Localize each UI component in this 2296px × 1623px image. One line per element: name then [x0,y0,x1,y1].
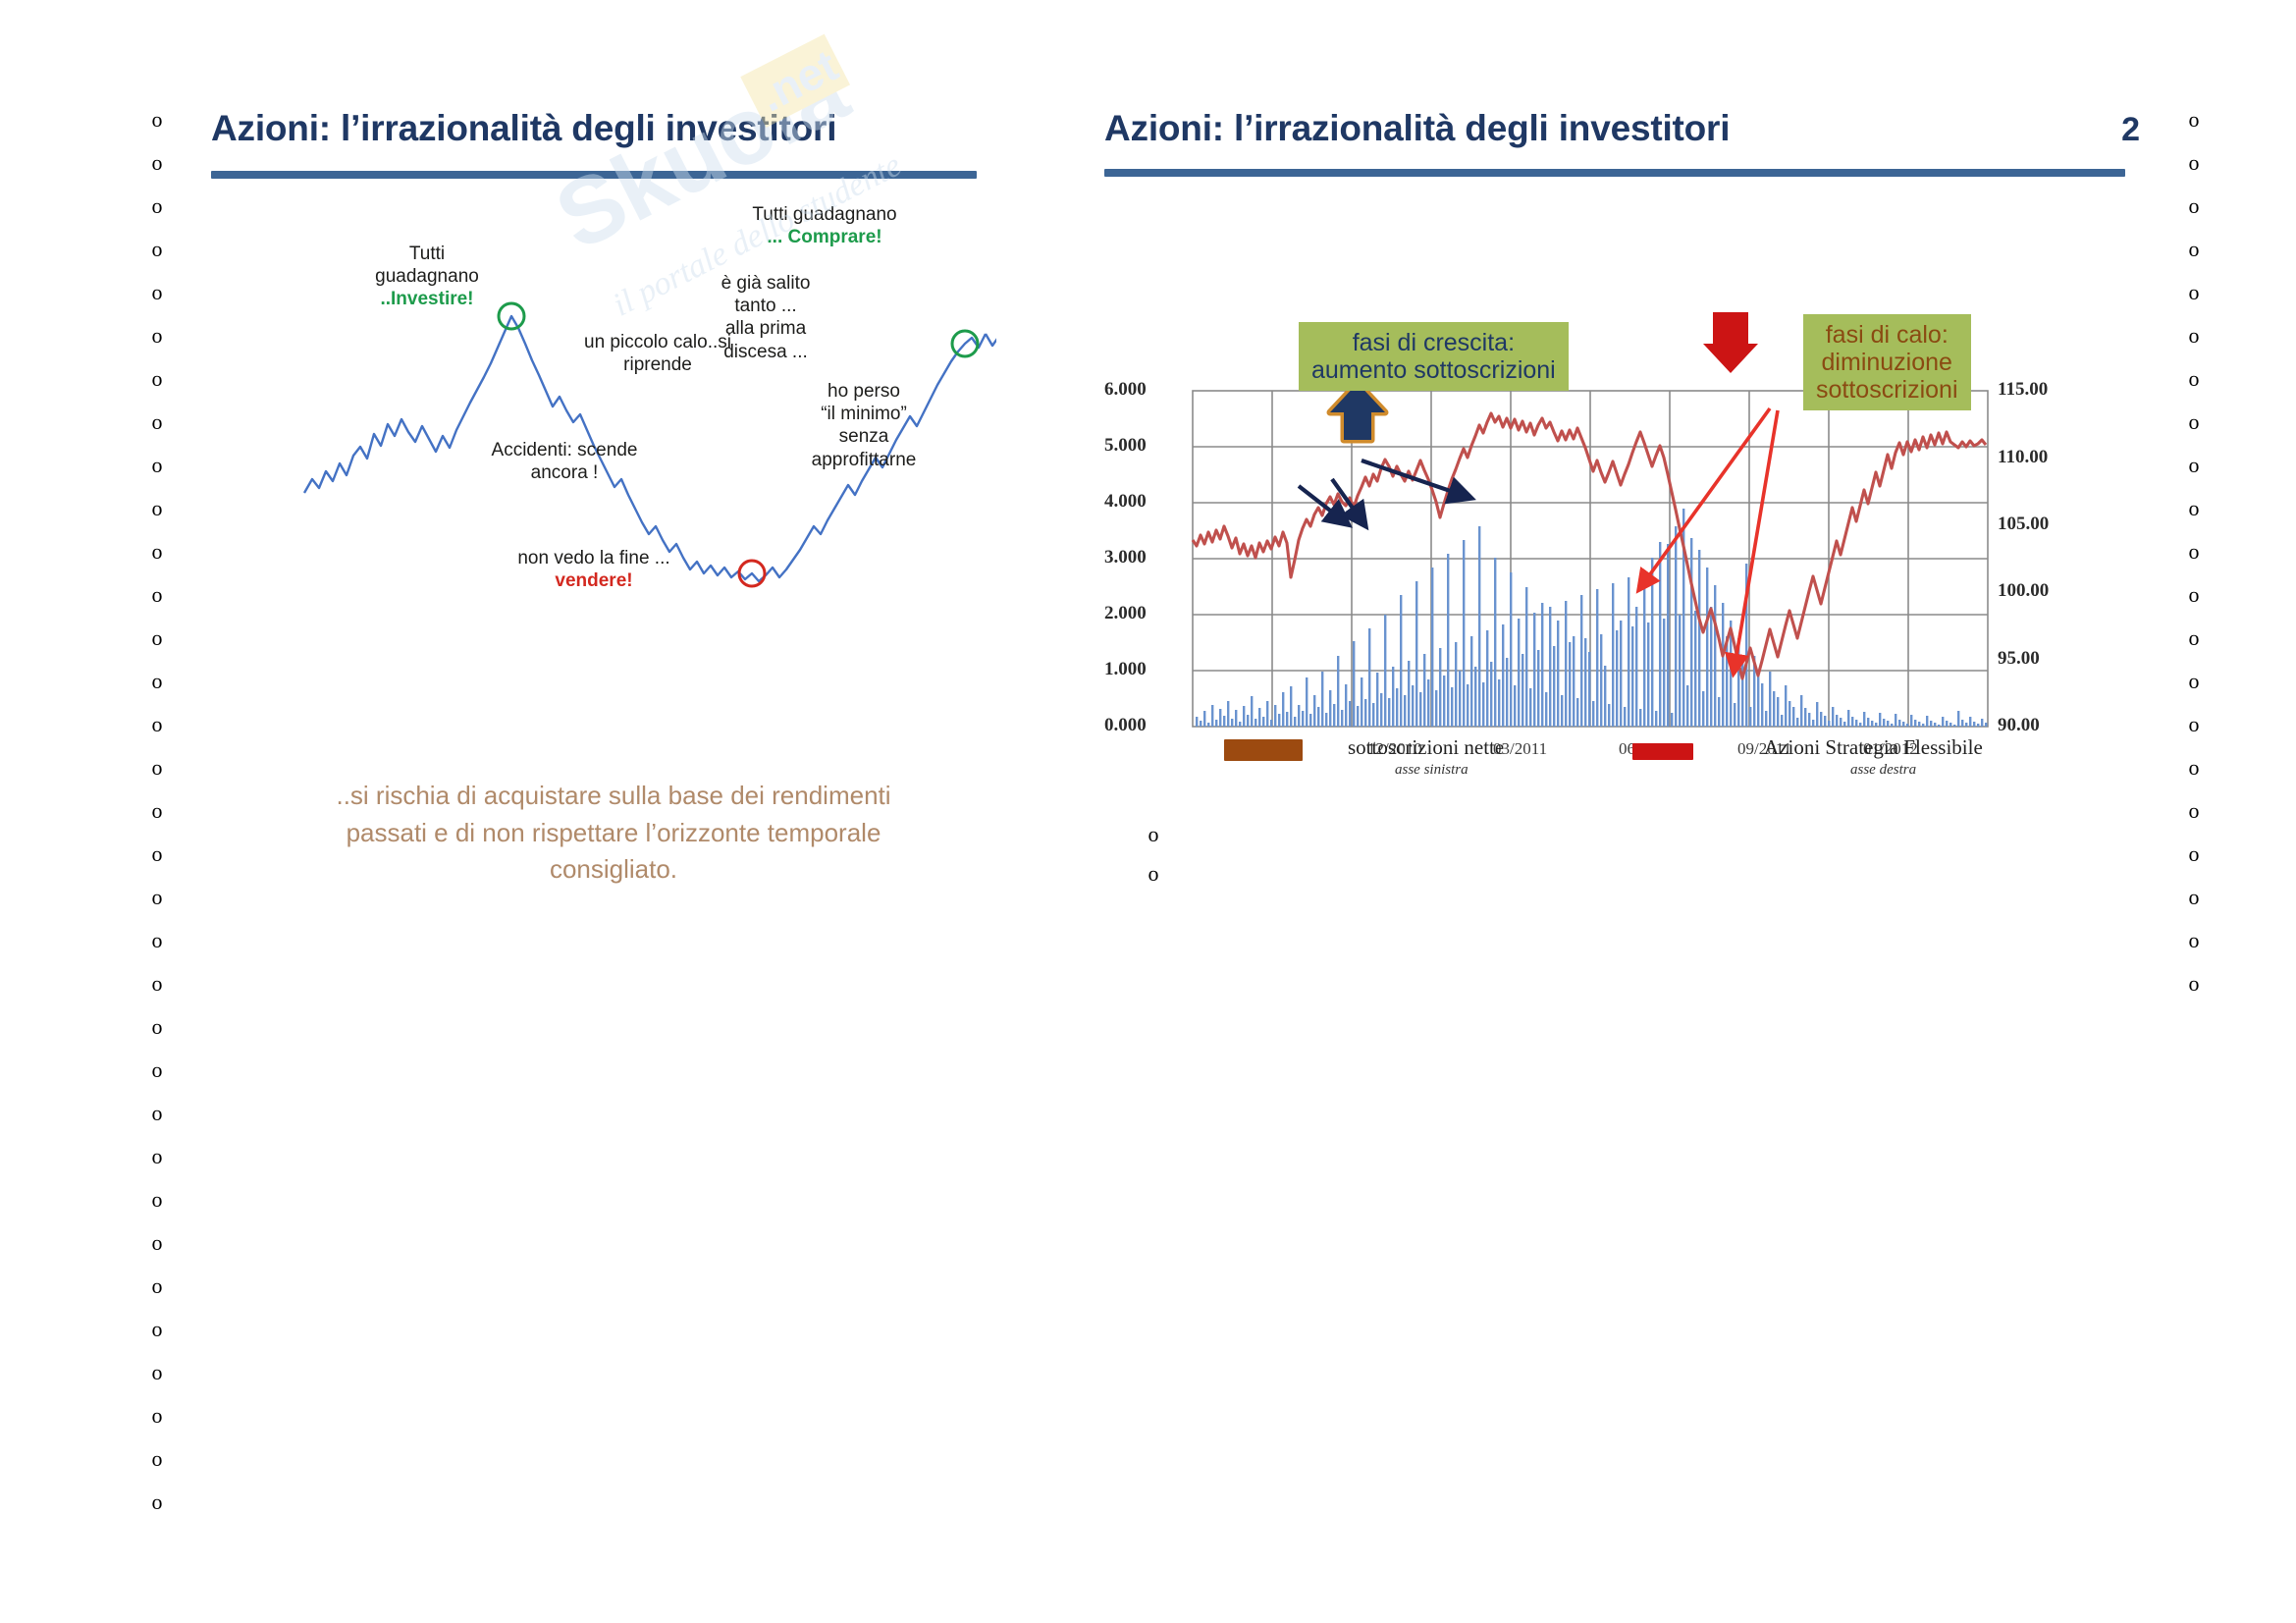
margin-bullet: o [152,789,163,833]
right-margin-bullet-column: ooooooooooooooooooooo [2174,98,2214,1005]
margin-bullet: o [2189,314,2200,357]
margin-bullet: o [1148,815,1159,854]
slide-2: Azioni: l’irrazionalità degli investitor… [1104,108,2140,803]
margin-bullet: o [2189,271,2200,314]
margin-bullet: o [152,357,163,401]
margin-bullet: o [2189,746,2200,789]
annotation-line: Tutti [339,243,515,265]
margin-bullet: o [152,1178,163,1221]
callout-fasi-di-crescita: fasi di crescita: aumento sottoscrizioni [1299,322,1569,391]
callout-line: aumento sottoscrizioni [1311,356,1556,384]
margin-bullet: o [2189,487,2200,530]
margin-bullet: o [2189,357,2200,401]
annotation-line-emphasis: ... Comprare! [767,227,881,247]
annotation-line-emphasis: ..Investire! [380,289,473,309]
callout-line: sottoscrizioni [1816,376,1958,404]
margin-bullet: o [152,530,163,573]
subscriptions-vs-fund-chart: 6.000 5.000 4.000 3.000 2.000 1.000 0.00… [1104,214,2130,803]
margin-bullet: o [152,1135,163,1178]
margin-bullet: o [2189,703,2200,746]
left-margin-bullet-column: ooooooooooooooooooooooooooooooooo [137,98,177,1524]
investor-cycle-diagram: Tutti guadagnano ..Investire! un piccolo… [211,189,996,817]
margin-bullet: o [2189,876,2200,919]
legend-swatch-azioni [1632,743,1693,760]
margin-bullet: o [152,1265,163,1308]
margin-bullet: o [152,1437,163,1481]
annotation-e-gia-salito: è già salito tanto ... alla prima disces… [692,272,839,363]
legend-label-sottoscrizioni: sottoscrizioni nette [1348,735,1504,760]
margin-bullet: o [152,1221,163,1265]
annotation-tutti-guadagnano-comprare: Tutti guadagnano ... Comprare! [712,203,937,248]
margin-bullet: o [152,1394,163,1437]
margin-bullet: o [2189,185,2200,228]
margin-bullet: o [2189,617,2200,660]
slide-2-title-row: Azioni: l’irrazionalità degli investitor… [1104,108,2140,149]
margin-bullet: o [2189,444,2200,487]
margin-bullet: o [152,1481,163,1524]
annotation-line: “il minimo” [775,403,952,425]
margin-bullet: o [2189,530,2200,573]
margin-bullet: o [152,919,163,962]
legend-label-azioni: Azioni Strategia Flessibile [1764,735,1983,760]
margin-bullet: o [152,573,163,617]
margin-bullet: o [1148,854,1159,893]
annotation-line: Tutti guadagnano [712,203,937,226]
down-arrow-icon [1703,312,1758,373]
margin-bullet: o [2189,141,2200,185]
slide-1-title-rule [211,171,977,179]
annotation-line: è già salito [692,272,839,295]
margin-bullet: o [152,1049,163,1092]
annotation-line: ho perso [775,380,952,403]
slide-2-title-rule [1104,169,2125,177]
margin-bullet: o [152,401,163,444]
callout-line: diminuzione [1816,349,1958,376]
market-cycle-line-chart [211,189,996,817]
slide-2-trailing-bullet-column: oo [1134,815,1173,893]
callout-line: fasi di crescita: [1311,329,1556,356]
fund-nav-line [1193,413,1986,678]
margin-bullet: o [152,314,163,357]
annotation-ho-perso-il-minimo: ho perso “il minimo” senza approfittarne [775,380,952,471]
legend-sublabel-sottoscrizioni: asse sinistra [1395,762,1468,779]
margin-bullet: o [2189,401,2200,444]
margin-bullet: o [2189,660,2200,703]
margin-bullet: o [2189,228,2200,271]
margin-bullet: o [152,487,163,530]
subscriptions-bars [1196,509,1987,727]
annotation-line: tanto ... [692,295,839,317]
slide-1-title: Azioni: l’irrazionalità degli investitor… [211,108,996,149]
annotation-line-emphasis: vendere! [555,570,632,591]
legend-swatch-sottoscrizioni [1224,739,1303,761]
margin-bullet: o [152,1005,163,1049]
margin-bullet: o [152,617,163,660]
margin-bullet: o [2189,789,2200,833]
annotation-line: Accidenti: scende [456,439,672,461]
margin-bullet: o [152,1092,163,1135]
margin-bullet: o [152,141,163,185]
slide-2-page-number: 2 [2121,111,2140,149]
annotation-non-vedo-la-fine-vendere: non vedo la fine ... vendere! [481,547,707,592]
margin-bullet: o [2189,962,2200,1005]
margin-bullet: o [152,228,163,271]
slide-2-title: Azioni: l’irrazionalità degli investitor… [1104,108,1730,149]
margin-bullet: o [2189,919,2200,962]
annotation-tutti-guadagnano-investire: Tutti guadagnano ..Investire! [339,243,515,311]
annotation-line: non vedo la fine ... [481,547,707,569]
margin-bullet: o [152,746,163,789]
callout-fasi-di-calo: fasi di calo: diminuzione sottoscrizioni [1803,314,1971,410]
margin-bullet: o [152,962,163,1005]
chart-plot-area [1104,214,2130,803]
annotation-accidenti-scende-ancora: Accidenti: scende ancora ! [456,439,672,484]
margin-bullet: o [152,876,163,919]
callout-line: fasi di calo: [1816,321,1958,349]
margin-bullet: o [152,444,163,487]
annotation-line: guadagnano [339,265,515,288]
annotation-line: alla prima [692,317,839,340]
slide-1: Azioni: l’irrazionalità degli investitor… [211,108,996,817]
annotation-line: discesa ... [692,341,839,363]
margin-bullet: o [152,1351,163,1394]
margin-bullet: o [2189,833,2200,876]
margin-bullet: o [152,703,163,746]
margin-bullet: o [152,98,163,141]
annotation-line: approfittarne [775,449,952,471]
margin-bullet: o [2189,98,2200,141]
margin-bullet: o [2189,573,2200,617]
legend-sublabel-azioni: asse destra [1850,762,1916,779]
annotation-line: senza [775,425,952,448]
margin-bullet: o [152,660,163,703]
annotation-line: ancora ! [456,461,672,484]
margin-bullet: o [152,1308,163,1351]
slide-1-caption: ..si rischia di acquistare sulla base de… [299,778,928,889]
margin-bullet: o [152,833,163,876]
margin-bullet: o [152,185,163,228]
margin-bullet: o [152,271,163,314]
